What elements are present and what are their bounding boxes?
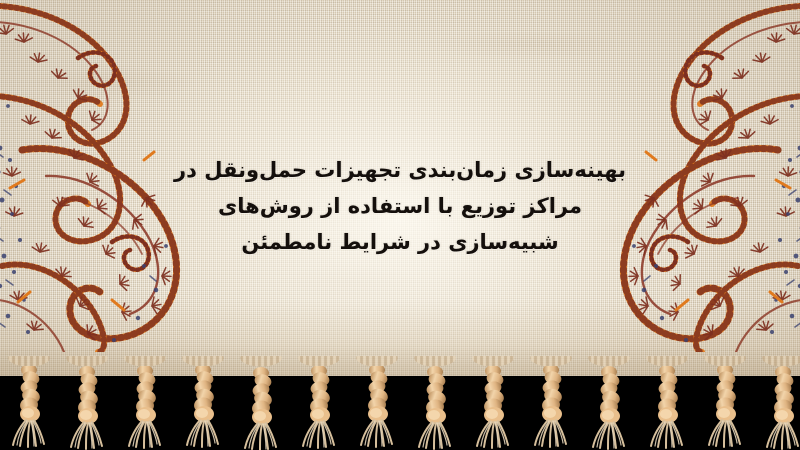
- tassel-item: [129, 366, 160, 448]
- title-line-1: بهینه‌سازی زمان‌بندی تجهیزات حمل‌ونقل در: [0, 152, 800, 188]
- tassel-item: [13, 366, 44, 447]
- tassel-item: [187, 366, 218, 447]
- title-line-3: شبیه‌سازی در شرایط نامطمئن: [0, 224, 800, 260]
- title-line-2: مراکز توزیع با استفاده از روش‌های: [0, 188, 800, 224]
- tassel-item: [767, 366, 798, 449]
- tassel-item: [535, 366, 566, 447]
- tassel-item: [71, 366, 102, 449]
- tassel-item: [651, 366, 682, 448]
- tassel-item: [245, 367, 276, 450]
- tassel-item: [419, 366, 450, 449]
- tassel-item: [593, 366, 624, 449]
- knotted-tassel-fringe: [0, 366, 800, 450]
- cloth-selvedge-edge: [0, 356, 800, 378]
- page-title: بهینه‌سازی زمان‌بندی تجهیزات حمل‌ونقل در…: [0, 152, 800, 260]
- tassel-item: [709, 366, 740, 447]
- title-card: بهینه‌سازی زمان‌بندی تجهیزات حمل‌ونقل در…: [0, 0, 800, 450]
- tassel-item: [477, 366, 508, 448]
- tassel-item: [303, 366, 334, 448]
- tassel-item: [361, 366, 392, 447]
